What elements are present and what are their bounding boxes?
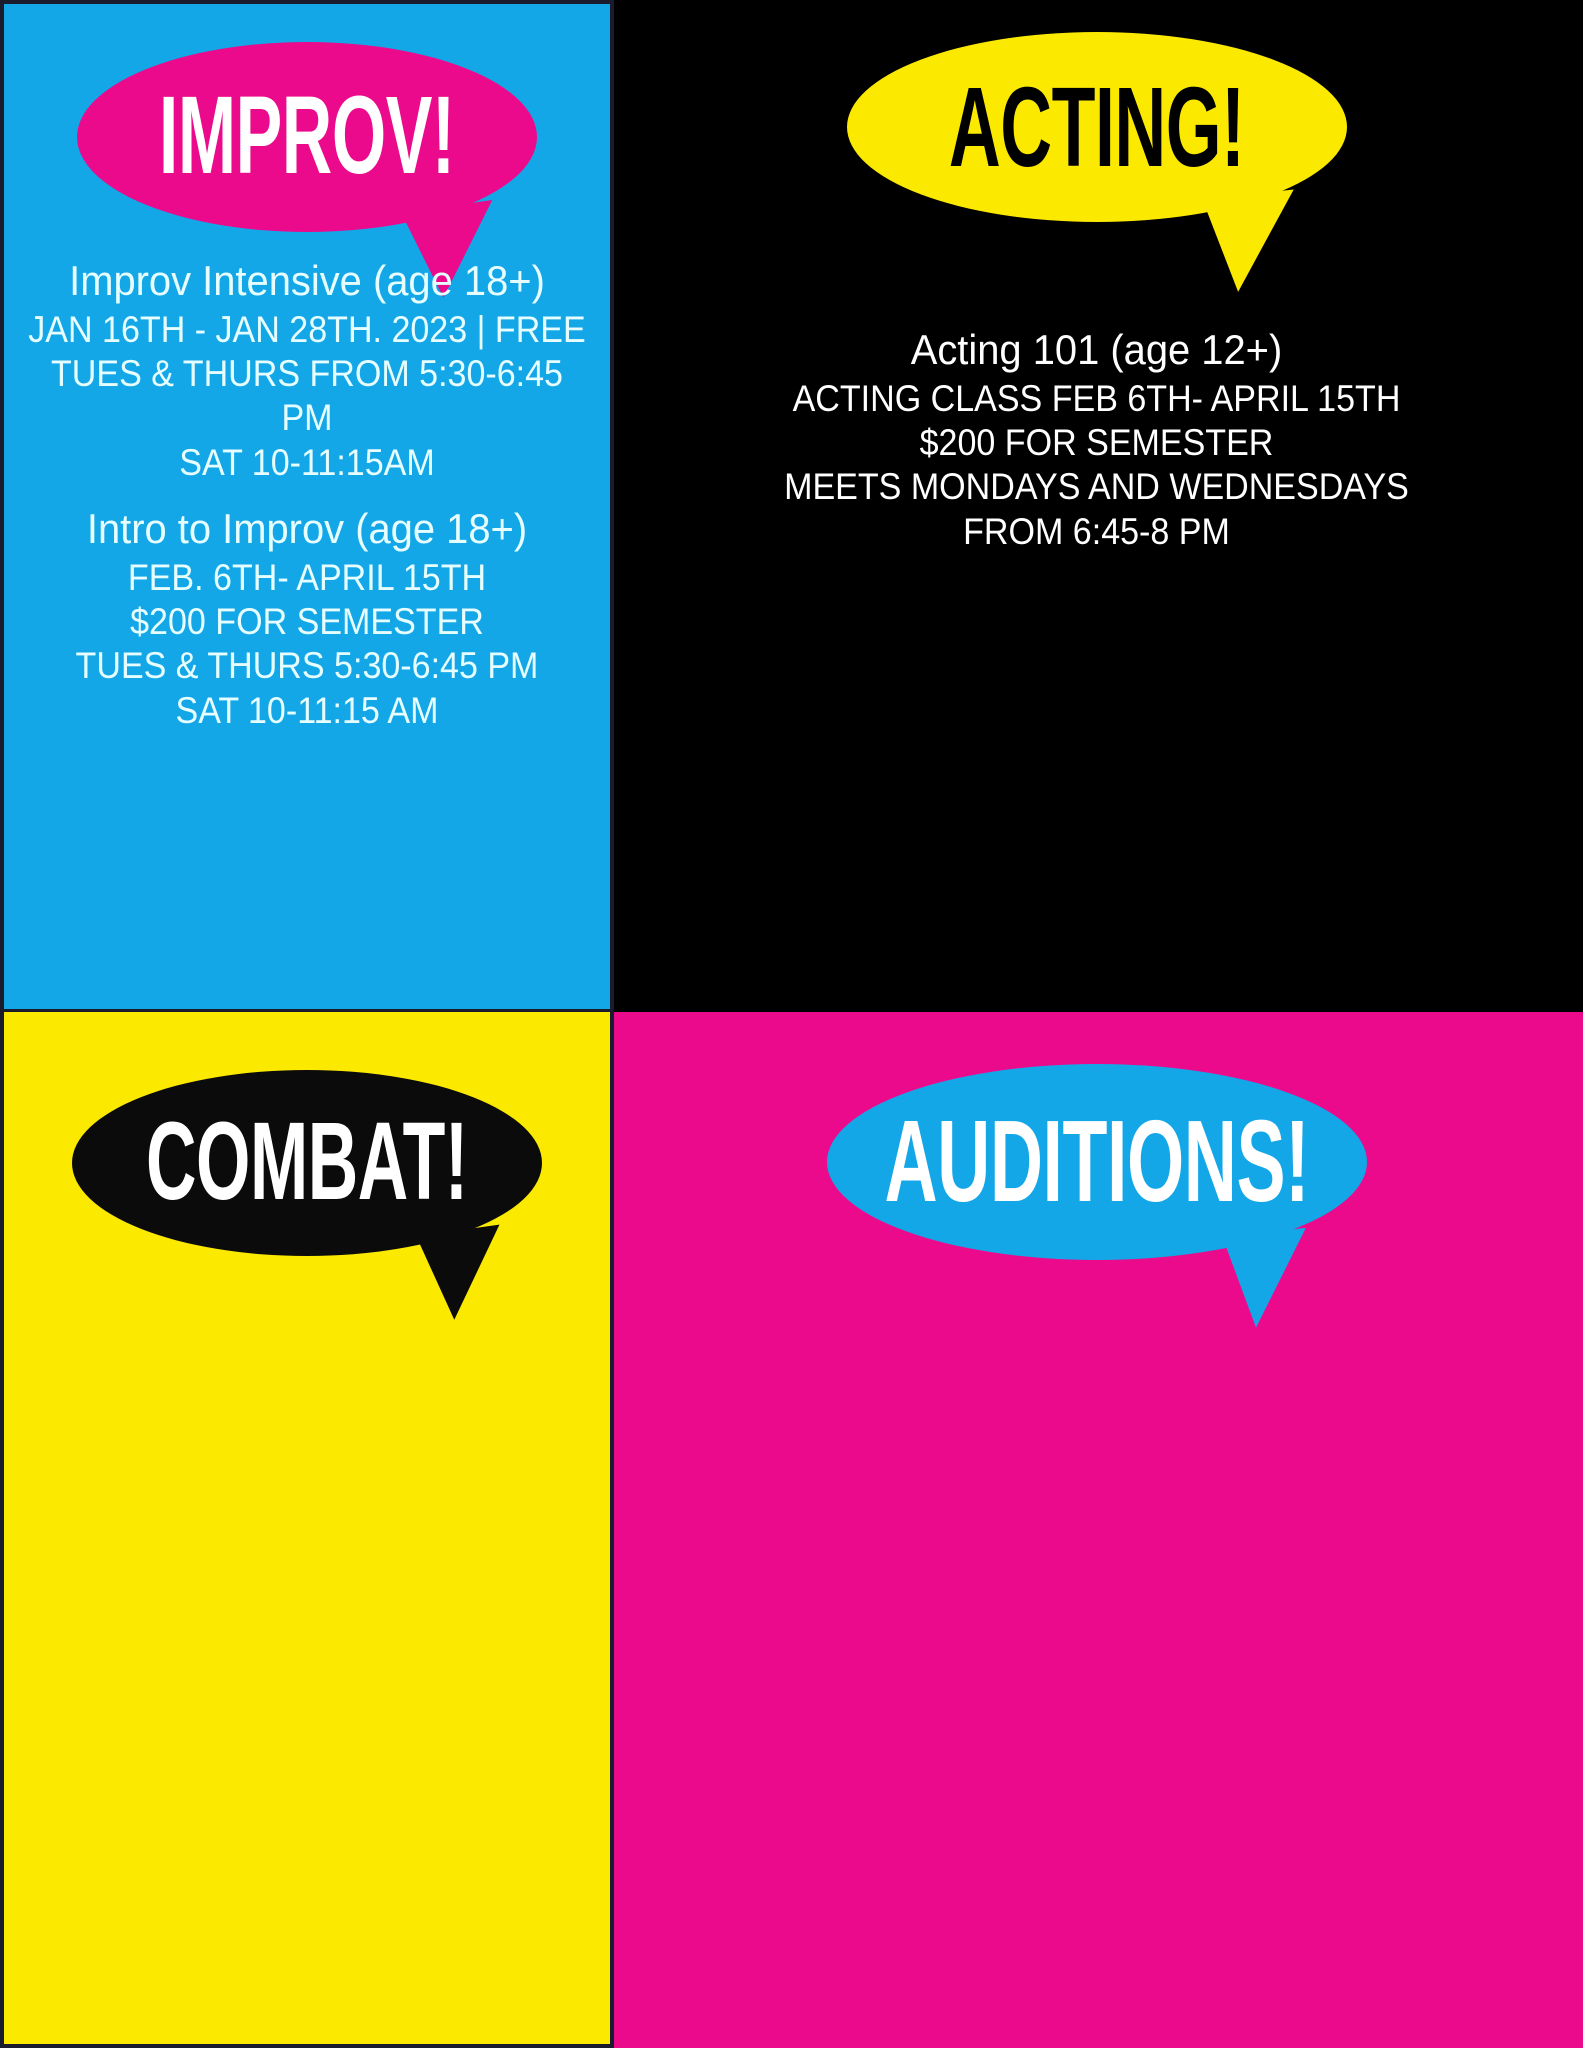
course-detail-line: ACTING CLASS FEB 6TH- APRIL 15TH [653,377,1541,421]
course-title: Intro to Improv (age 18+) [19,504,595,554]
speech-bubble-tail-icon [1222,1228,1315,1330]
quadrant-combat: COMBAT! Stage Combat (age 18+) FEB. 6TH-… [0,1012,610,2048]
speech-bubble-combat: COMBAT! [72,1070,542,1256]
improv-bubble-label: IMPROV! [159,90,455,184]
course-title: Improv Intensive (age 18+) [19,256,595,306]
combat-bubble-label: COMBAT! [146,1116,468,1210]
combat-bubble-container: COMBAT! [4,1070,610,1256]
quadrant-auditions: AUDITIONS! The Audition Process (age 12+… [610,1012,1583,2048]
improv-bubble-container: IMPROV! [4,42,610,232]
course-detail-line: SAT 10-11:15 AM [28,689,586,733]
acting-101-course: Acting 101 (age 12+) ACTING CLASS FEB 6T… [610,325,1583,554]
course-detail-line: FROM 6:45-8 PM [653,510,1541,554]
speech-bubble-improv: IMPROV! [77,42,537,232]
auditions-bubble-container: AUDITIONS! [610,1064,1583,1260]
acting-bubble-label: ACTING! [949,79,1245,175]
course-detail-line: TUES & THURS FROM 5:30-6:45 PM [28,352,586,441]
acting-bubble-container: ACTING! [610,32,1583,222]
speech-bubble-auditions: AUDITIONS! [827,1064,1367,1260]
speech-bubble-tail-icon [1202,189,1304,294]
course-detail-line: MEETS MONDAYS AND WEDNESDAYS [653,465,1541,509]
improv-intensive-course: Improv Intensive (age 18+) JAN 16TH - JA… [4,256,610,485]
speech-bubble-acting: ACTING! [847,32,1347,222]
course-title: Acting 101 (age 12+) [638,325,1555,375]
class-schedule-poster: IMPROV! Improv Intensive (age 18+) JAN 1… [0,0,1583,2048]
course-detail-line: TUES & THURS 5:30-6:45 PM [28,644,586,688]
quadrant-acting: ACTING! Acting 101 (age 12+) ACTING CLAS… [610,0,1583,1012]
course-detail-line: JAN 16TH - JAN 28TH. 2023 | FREE [28,308,586,352]
course-detail-line: $200 FOR SEMESTER [653,421,1541,465]
speech-bubble-tail-icon [416,1225,511,1324]
intro-to-improv-course: Intro to Improv (age 18+) FEB. 6TH- APRI… [4,504,610,733]
auditions-bubble-label: AUDITIONS! [884,1113,1309,1212]
course-detail-line: FEB. 6TH- APRIL 15TH [28,556,586,600]
course-detail-line: SAT 10-11:15AM [28,441,586,485]
vertical-divider [610,0,614,2048]
course-detail-line: $200 FOR SEMESTER [28,600,586,644]
quadrant-improv: IMPROV! Improv Intensive (age 18+) JAN 1… [0,0,610,1012]
